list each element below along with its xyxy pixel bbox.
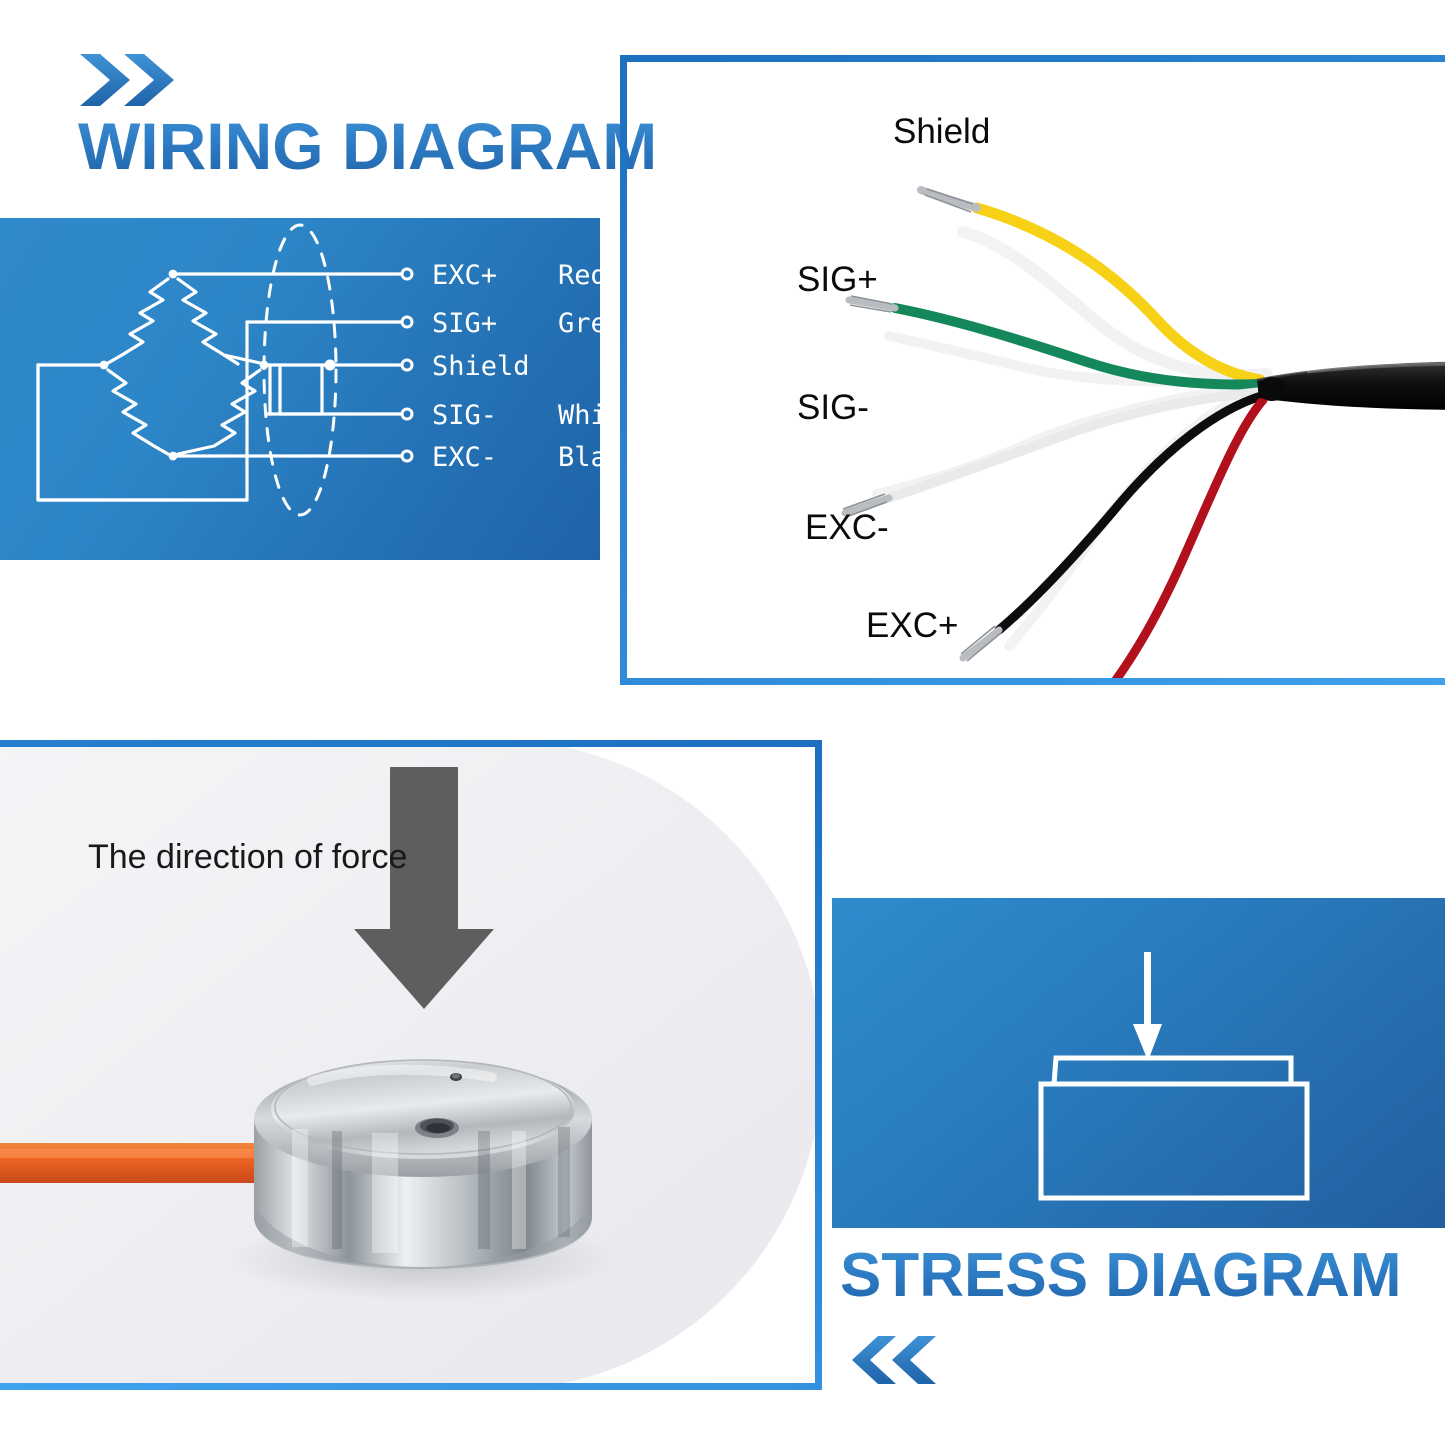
terminal-color-4: Black xyxy=(558,442,600,473)
terminal-signal-0: EXC+ xyxy=(432,260,497,291)
terminal-signal-1: SIG+ xyxy=(432,308,497,339)
down-arrow-icon xyxy=(1133,952,1162,1061)
stress-diagram-panel xyxy=(832,898,1445,1228)
double-chevron-left-icon xyxy=(852,1334,938,1386)
terminal-color-3: White xyxy=(558,400,600,431)
stress-block-diagram xyxy=(832,898,1445,1228)
terminal-color-1: Green xyxy=(558,308,600,339)
force-direction-label: The direction of force xyxy=(88,838,407,877)
page-title-wiring: WIRING DIAGRAM xyxy=(78,108,657,184)
terminal-signal-3: SIG- xyxy=(432,400,497,431)
wire-label-sig-minus: SIG- xyxy=(797,388,869,428)
cable-wires-illustration xyxy=(627,62,1445,685)
double-chevron-right-icon xyxy=(78,52,178,108)
wire-label-exc-plus: EXC+ xyxy=(866,606,958,646)
wire-label-shield: Shield xyxy=(893,112,990,152)
wire-label-exc-minus: EXC- xyxy=(805,508,889,548)
infographic-stage: WIRING DIAGRAM xyxy=(0,0,1445,1445)
wire-label-sig-plus: SIG+ xyxy=(797,260,878,300)
schematic-terminal-labels: EXC+ Red SIG+ Green Shield SIG- White EX… xyxy=(0,218,600,560)
wire-photo-card xyxy=(620,55,1445,685)
terminal-color-0: Red xyxy=(558,260,600,291)
terminal-signal-4: EXC- xyxy=(432,442,497,473)
terminal-signal-2: Shield xyxy=(432,351,530,382)
wiring-schematic-panel: EXC+ Red SIG+ Green Shield SIG- White EX… xyxy=(0,218,600,560)
page-title-stress: STRESS DIAGRAM xyxy=(840,1240,1401,1311)
